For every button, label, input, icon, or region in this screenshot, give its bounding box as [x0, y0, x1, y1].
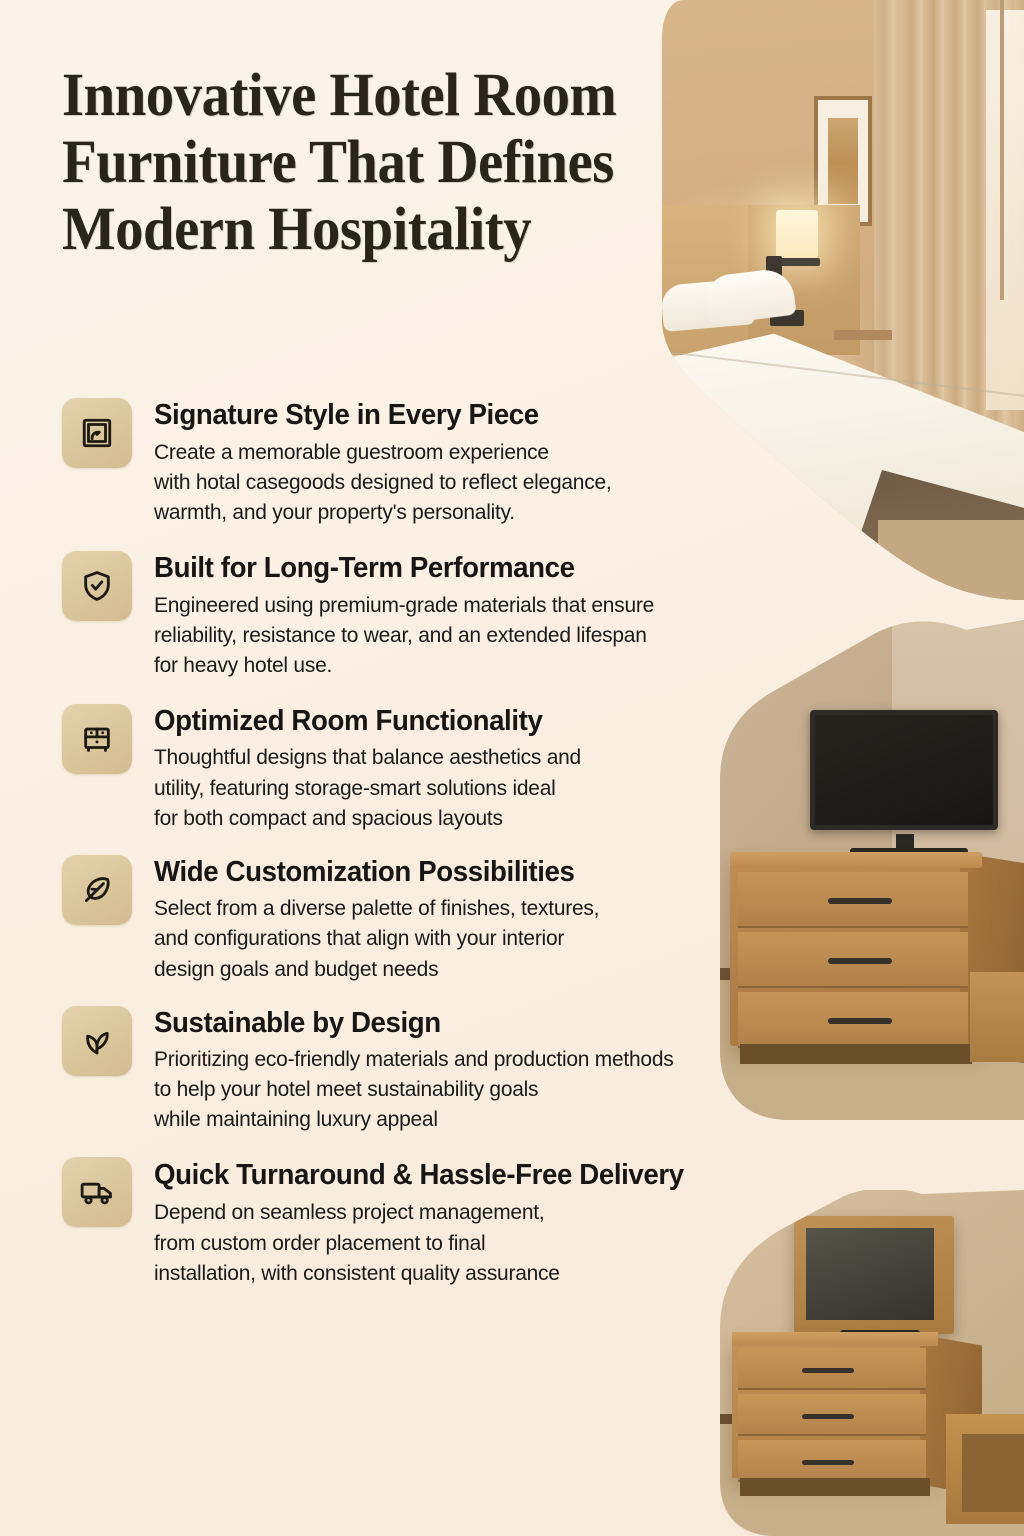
drawer-handle	[828, 1018, 892, 1024]
feature-text: Wide Customization Possibilities Select …	[154, 855, 611, 984]
drawer-handle	[828, 958, 892, 964]
feature-description: Create a memorable guestroom experience …	[154, 437, 611, 527]
feature-item-customization: Wide Customization Possibilities Select …	[62, 855, 822, 984]
drawer-handle	[828, 898, 892, 904]
feature-item-room-functionality: Optimized Room Functionality Thoughtful …	[62, 704, 822, 833]
feature-item-sustainable-design: Sustainable by Design Prioritizing eco-f…	[62, 1006, 822, 1135]
feature-title: Built for Long-Term Performance	[154, 552, 651, 586]
bedroom-curtain-rod	[1000, 0, 1004, 300]
feature-text: Quick Turnaround & Hassle-Free Delivery …	[154, 1157, 700, 1288]
artwork-canvas	[828, 118, 858, 204]
bedside-table	[834, 330, 892, 340]
feature-text: Optimized Room Functionality Thoughtful …	[154, 704, 592, 833]
feature-description: Thoughtful designs that balance aestheti…	[154, 742, 581, 832]
feature-title: Sustainable by Design	[154, 1007, 671, 1041]
page-title: Innovative Hotel Room Furniture That Def…	[62, 62, 639, 263]
feature-item-quick-turnaround: Quick Turnaround & Hassle-Free Delivery …	[62, 1157, 822, 1288]
feature-list: Signature Style in Every Piece Create a …	[62, 398, 822, 1310]
bedroom-curtain-front	[900, 0, 986, 430]
feature-description: Depend on seamless project management, f…	[154, 1197, 686, 1287]
feature-title: Optimized Room Functionality	[154, 705, 579, 739]
feature-title: Signature Style in Every Piece	[154, 399, 609, 433]
leaf-icon	[62, 1006, 132, 1076]
bedroom-floor	[878, 520, 1024, 600]
delivery-truck-icon	[62, 1157, 132, 1227]
drawer-handle	[802, 1368, 854, 1373]
shield-check-icon	[62, 551, 132, 621]
infographic-poster: Innovative Hotel Room Furniture That Def…	[0, 0, 1024, 1536]
television-screen	[806, 1228, 934, 1320]
dresser-icon	[62, 704, 132, 774]
feature-item-long-term-performance: Built for Long-Term Performance Engineer…	[62, 551, 822, 680]
feature-text: Built for Long-Term Performance Engineer…	[154, 551, 667, 680]
feature-title: Wide Customization Possibilities	[154, 856, 597, 890]
drawer-handle	[802, 1414, 854, 1419]
feature-text: Signature Style in Every Piece Create a …	[154, 398, 623, 527]
dresser-plinth	[740, 1478, 930, 1496]
dresser-top-surface	[732, 1332, 938, 1346]
feature-description: Engineered using premium-grade materials…	[154, 590, 654, 680]
wall-lamp-shade	[776, 210, 818, 258]
feature-item-signature-style: Signature Style in Every Piece Create a …	[62, 398, 822, 527]
side-table-opening	[962, 1434, 1024, 1512]
television-screen	[810, 710, 998, 830]
feather-icon	[62, 855, 132, 925]
side-stool	[970, 972, 1024, 1062]
drawer-handle	[802, 1460, 854, 1465]
feature-title: Quick Turnaround & Hassle-Free Delivery	[154, 1158, 684, 1194]
feature-text: Sustainable by Design Prioritizing eco-f…	[154, 1006, 687, 1135]
feature-description: Prioritizing eco-friendly materials and …	[154, 1044, 674, 1134]
picture-frame-icon	[62, 398, 132, 468]
feature-description: Select from a diverse palette of finishe…	[154, 893, 599, 983]
